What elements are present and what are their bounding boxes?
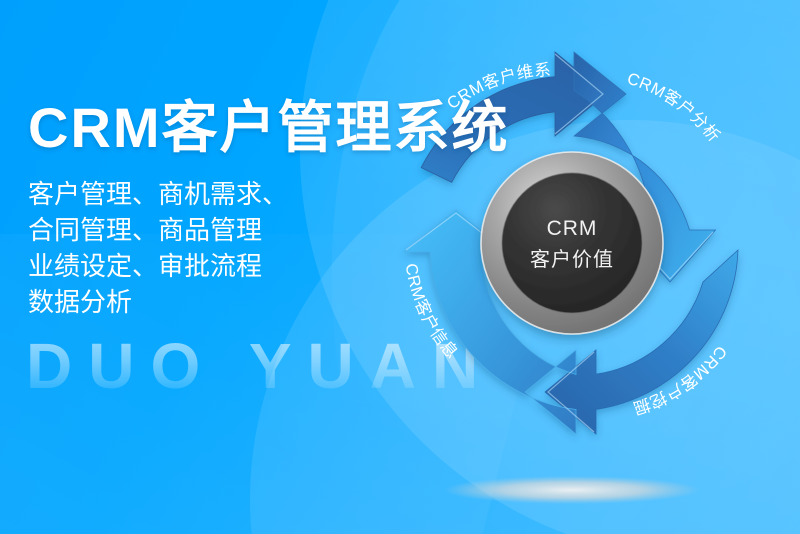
label-crm-kehu-fenxi: CRM客户分析 xyxy=(625,70,724,146)
center-label-value: 客户价值 xyxy=(530,248,614,271)
center-label-crm: CRM xyxy=(547,217,598,240)
page-title: CRM客户管理系统 xyxy=(28,96,510,160)
ground-reflection xyxy=(444,476,700,504)
feature-line: 数据分析 xyxy=(28,284,510,320)
feature-line: 业绩设定、审批流程 xyxy=(28,248,510,284)
crm-poster: DUO YUAN xyxy=(0,0,800,534)
feature-line: 合同管理、商品管理 xyxy=(28,212,510,248)
feature-list: 客户管理、商机需求、 合同管理、商品管理 业绩设定、审批流程 数据分析 xyxy=(28,176,510,320)
feature-line: 客户管理、商机需求、 xyxy=(28,176,510,212)
hub-inner-circle xyxy=(502,173,642,313)
headline-block: CRM客户管理系统 客户管理、商机需求、 合同管理、商品管理 业绩设定、审批流程… xyxy=(28,96,510,320)
